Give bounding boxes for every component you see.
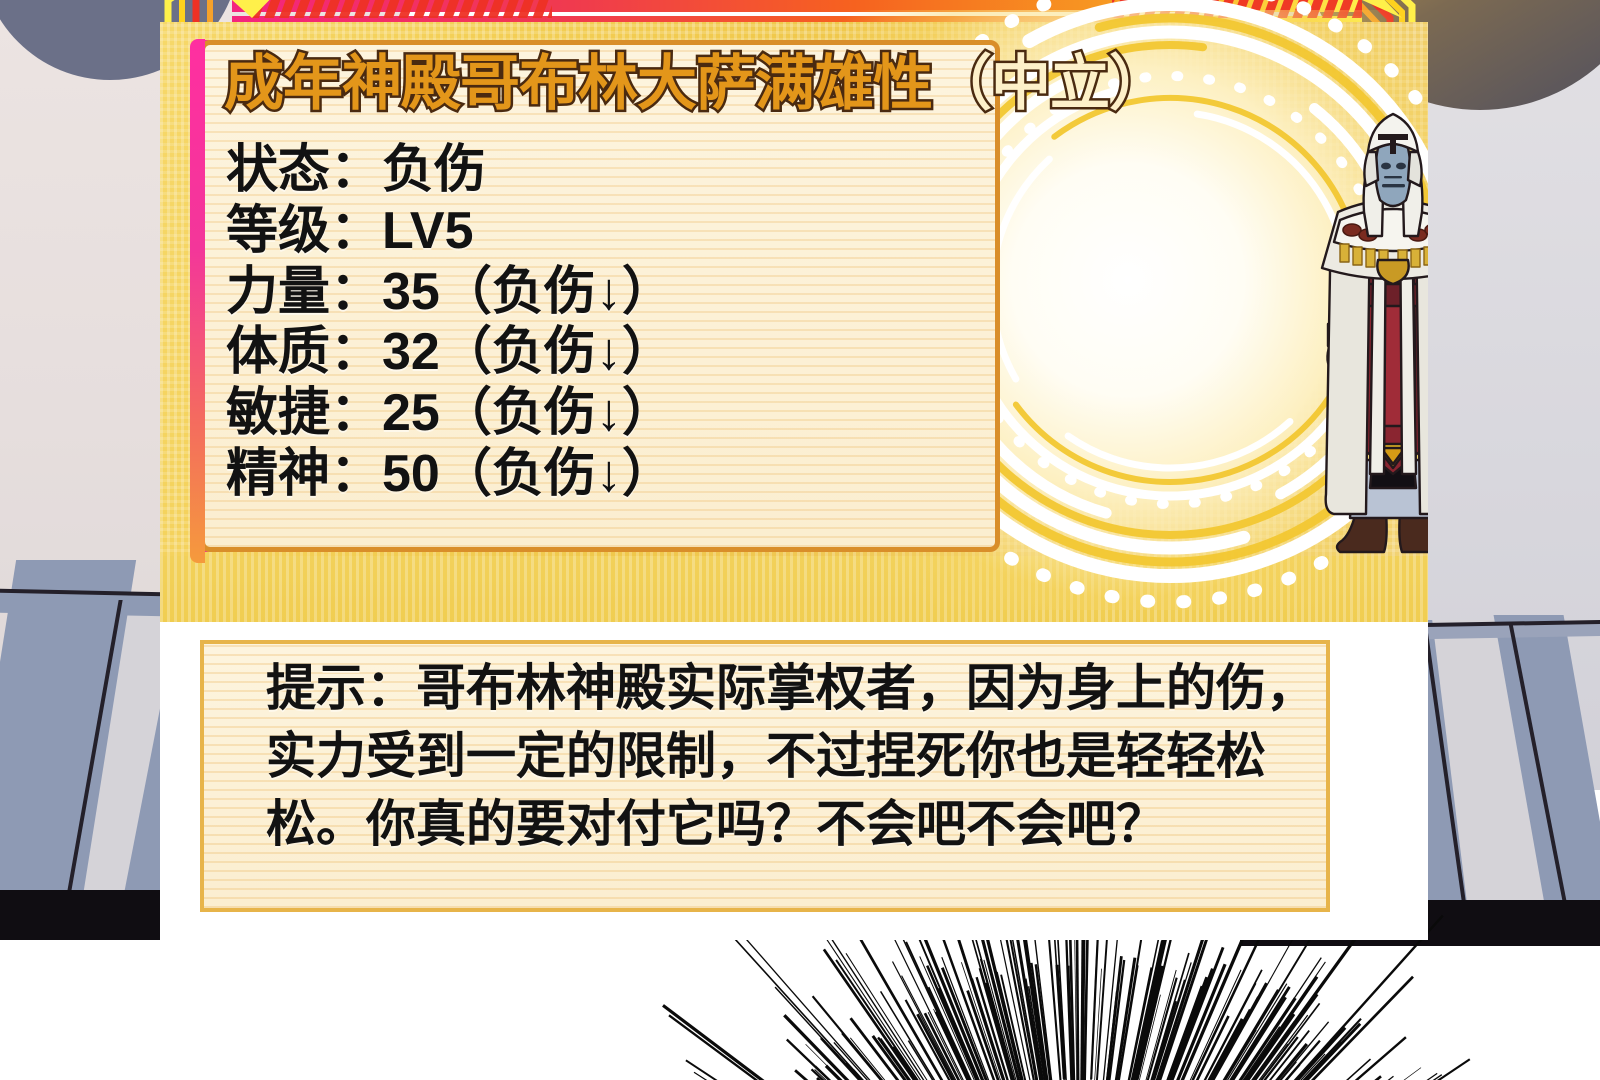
stat-row-status: 状态：负伤 — [226, 140, 674, 201]
stat-list: 状态：负伤 等级：LV5 力量：35（负伤↓） 体质：32（负伤↓） 敏捷：25… — [226, 140, 674, 505]
stat-row-agility: 敏捷：25（负伤↓） — [226, 383, 674, 444]
hint-text: 提示：哥布林神殿实际掌权者，因为身上的伤，实力受到一定的限制，不过捏死你也是轻轻… — [266, 654, 1326, 858]
stat-row-spirit: 精神：50（负伤↓） — [226, 444, 674, 505]
character-title: 成年神殿哥布林大萨满雄性 （中立） — [224, 52, 1168, 116]
stat-row-level: 等级：LV5 — [226, 201, 674, 262]
status-card: 成年神殿哥布林大萨满雄性 （中立） 状态：负伤 等级：LV5 力量：35（负伤↓… — [160, 0, 1428, 940]
stat-row-strength: 力量：35（负伤↓） — [226, 262, 674, 323]
hint-panel: 提示：哥布林神殿实际掌权者，因为身上的伤，实力受到一定的限制，不过捏死你也是轻轻… — [200, 640, 1330, 912]
stat-row-constitution: 体质：32（负伤↓） — [226, 322, 674, 383]
character-name: 成年神殿哥布林大萨满雄性 — [224, 52, 932, 116]
character-alignment: （中立） — [932, 52, 1168, 116]
goblin-shaman-portrait — [1278, 108, 1428, 568]
